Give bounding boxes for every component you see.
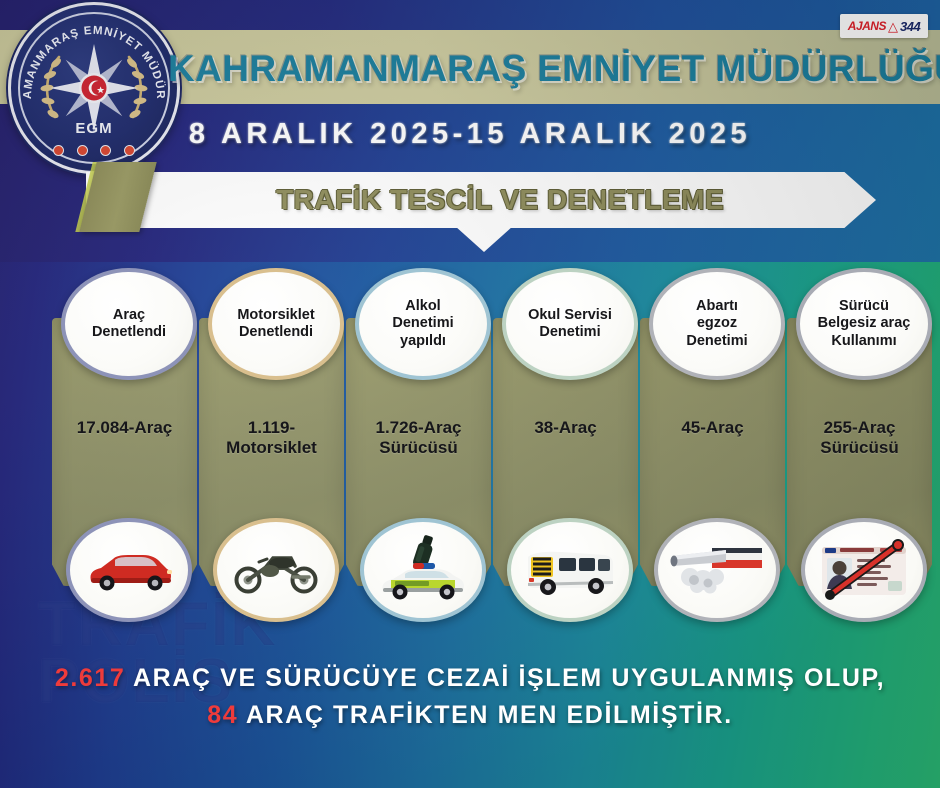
banner-title: TRAFİK TESCİL VE DENETLEME (150, 172, 850, 228)
stat-value: 17.084-Araç (52, 418, 197, 438)
stat-label: Abartı egzoz Denetimi (680, 298, 753, 349)
organization-title: KAHRAMANMARAŞ EMNİYET MÜDÜRLÜĞÜ (168, 38, 928, 100)
stat-label-circle: Motorsiklet Denetlendi (208, 268, 344, 380)
stat-label-line: Okul Servisi (528, 307, 612, 323)
ajans-word: AJANS (848, 19, 886, 33)
alcohol-check-police-car-icon (360, 518, 486, 622)
stat-value: 38-Araç (493, 418, 638, 438)
motorcycle-icon (213, 518, 339, 622)
exhaust-pipe-icon (654, 518, 780, 622)
stat-label-line: Motorsiklet (237, 307, 314, 323)
stat-column-arac-denetlendi: Araç Denetlendi 17.084-Araç (52, 268, 197, 616)
stat-label-line: Belgesiz araç (818, 315, 911, 331)
banned-count: 84 (207, 701, 238, 729)
stat-value: 1.726-Araç Sürücüsü (346, 418, 491, 459)
stat-label-circle: Abartı egzoz Denetimi (649, 268, 785, 380)
summary-line-2-text: ARAÇ TRAFİKTEN MEN EDİLMİŞTİR. (238, 701, 733, 729)
stat-label-circle: Sürücü Belgesiz araç Kullanımı (796, 268, 932, 380)
stat-label-line: Denetimi (539, 324, 600, 340)
stat-label-line: Denetlendi (92, 324, 166, 340)
statistics-columns: Araç Denetlendi 17.084-Araç (0, 268, 940, 616)
stat-label-line: Sürücü (839, 298, 889, 314)
stat-label-line: Denetimi (686, 333, 747, 349)
stat-label-line: Denetimi (392, 315, 453, 331)
summary-footer: 2.617 ARAÇ VE SÜRÜCÜYE CEZAİ İŞLEM UYGUL… (0, 660, 940, 770)
stat-column-motorsiklet-denetlendi: Motorsiklet Denetlendi 1.119-Motorsiklet (199, 268, 344, 616)
stat-column-abarti-egzoz-denetimi: Abartı egzoz Denetimi 45-Araç (640, 268, 785, 616)
stat-column-surucu-belgesiz-kullanim: Sürücü Belgesiz araç Kullanımı 255-Araç … (787, 268, 932, 616)
ajans-number: 344 (900, 19, 920, 34)
stat-label-circle: Alkol Denetimi yapıldı (355, 268, 491, 380)
red-suv-icon (66, 518, 192, 622)
stat-label: Motorsiklet Denetlendi (231, 307, 320, 341)
ajans-wave-icon: △ (888, 20, 898, 33)
ajans344-logo-icon: AJANS △ 344 (840, 14, 928, 38)
stat-label-line: Kullanımı (831, 333, 896, 349)
stat-label-line: Abartı (696, 298, 738, 314)
stat-label-circle: Okul Servisi Denetimi (502, 268, 638, 380)
stat-label: Araç Denetlendi (86, 307, 172, 341)
stat-label-line: egzoz (697, 315, 737, 331)
stat-label: Okul Servisi Denetimi (522, 307, 618, 341)
banner-arrow-notch-icon (455, 226, 513, 252)
summary-line-1-text: ARAÇ VE SÜRÜCÜYE CEZAİ İŞLEM UYGULANMIŞ … (125, 664, 885, 692)
summary-line-2: 84 ARAÇ TRAFİKTEN MEN EDİLMİŞTİR. (0, 697, 940, 734)
school-bus-minivan-icon (507, 518, 633, 622)
stat-column-okul-servisi-denetimi: Okul Servisi Denetimi 38-Araç (493, 268, 638, 616)
drivers-license-revoked-icon (801, 518, 927, 622)
stat-label: Alkol Denetimi yapıldı (386, 298, 459, 349)
summary-line-1: 2.617 ARAÇ VE SÜRÜCÜYE CEZAİ İŞLEM UYGUL… (0, 660, 940, 697)
stat-label-line: Araç (113, 307, 145, 323)
infographic-poster: KAHRAMANMARAŞ EMNİYET MÜDÜRLÜĞÜ (0, 0, 940, 788)
stat-label-line: yapıldı (400, 333, 446, 349)
stat-column-alkol-denetimi: Alkol Denetimi yapıldı 1.726-Araç Sürücü… (346, 268, 491, 616)
stat-value: 1.119-Motorsiklet (199, 418, 344, 459)
penalized-count: 2.617 (55, 664, 126, 692)
stat-value: 45-Araç (640, 418, 785, 438)
stat-value: 255-Araç Sürücüsü (787, 418, 932, 459)
date-range-label: 8 ARALIK 2025-15 ARALIK 2025 (0, 118, 940, 151)
stat-label: Sürücü Belgesiz araç Kullanımı (812, 298, 917, 349)
stat-label-line: Alkol (405, 298, 440, 314)
section-banner: TRAFİK TESCİL VE DENETLEME (0, 168, 940, 264)
stat-label-line: Denetlendi (239, 324, 313, 340)
stat-label-circle: Araç Denetlendi (61, 268, 197, 380)
